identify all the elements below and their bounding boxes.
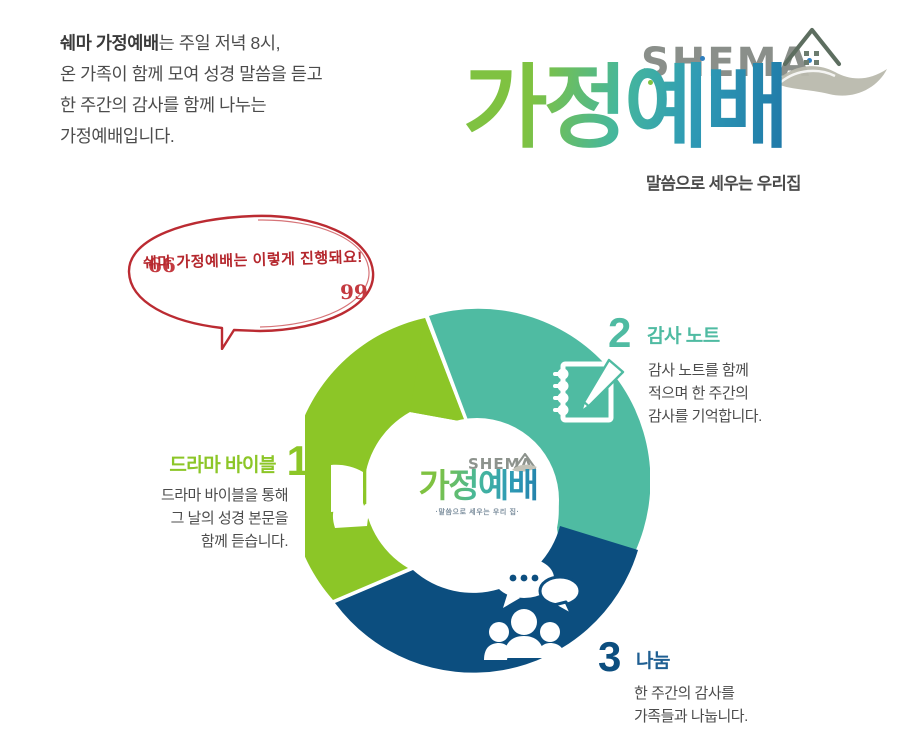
intro-line-2: 온 가족이 함께 모여 성경 말씀을 듣고 bbox=[60, 59, 460, 90]
step-2-number: 2 bbox=[608, 312, 631, 354]
step-1-desc-line-3: 함께 듣습니다. bbox=[161, 530, 288, 553]
intro-line-1: 쉐마 가정예배는 주일 저녁 8시, bbox=[60, 28, 460, 59]
cycle-center-disc bbox=[395, 418, 559, 582]
step-2-desc-line-3: 감사를 기억합니다. bbox=[648, 405, 762, 428]
step-2-desc-line-1: 감사 노트를 함께 bbox=[648, 359, 762, 382]
step-3-title: 나눔 bbox=[636, 646, 670, 673]
step-1-desc-line-1: 드라마 바이블을 통해 bbox=[161, 484, 288, 507]
logo-tagline: 말씀으로 세우는 우리집 bbox=[646, 170, 801, 194]
step-2-desc-line-2: 적으며 한 주간의 bbox=[648, 382, 762, 405]
intro-paragraph: 쉐마 가정예배는 주일 저녁 8시, 온 가족이 함께 모여 성경 말씀을 듣고… bbox=[60, 28, 460, 152]
speech-bubble-line-1: 쉐마 가정예배는 bbox=[143, 252, 248, 272]
infographic-canvas: 쉐마 가정예배는 주일 저녁 8시, 온 가족이 함께 모여 성경 말씀을 듣고… bbox=[0, 0, 903, 751]
hand-swoosh-icon bbox=[773, 56, 891, 108]
step-3-desc-line-1: 한 주간의 감사를 bbox=[634, 682, 748, 705]
intro-line-4: 가정예배입니다. bbox=[60, 121, 460, 152]
intro-line-1-bold: 쉐마 가정예배 bbox=[60, 33, 159, 53]
step-1-number: 1 bbox=[287, 440, 310, 482]
step-3-desc-line-2: 가족들과 나눕니다. bbox=[634, 705, 748, 728]
intro-line-3: 한 주간의 감사를 함께 나누는 bbox=[60, 90, 460, 121]
step-3-number: 3 bbox=[598, 636, 621, 678]
step-1-description: 드라마 바이블을 통해 그 날의 성경 본문을 함께 듣습니다. bbox=[161, 484, 288, 553]
step-3-description: 한 주간의 감사를 가족들과 나눕니다. bbox=[634, 682, 748, 728]
shema-logo: SHEMA 가정예배 말씀으로 세우는 우리집 bbox=[455, 18, 875, 208]
step-1-desc-line-2: 그 날의 성경 본문을 bbox=[161, 507, 288, 530]
logo-word: 가정예배 bbox=[463, 62, 786, 154]
step-2-title: 감사 노트 bbox=[647, 321, 720, 348]
step-1-title: 드라마 바이블 bbox=[169, 450, 276, 477]
speech-bubble-line-2: 이렇게 진행돼요! bbox=[252, 249, 363, 269]
step-2-description: 감사 노트를 함께 적으며 한 주간의 감사를 기억합니다. bbox=[648, 359, 762, 428]
intro-line-1-rest: 는 주일 저녁 8시, bbox=[159, 33, 280, 53]
